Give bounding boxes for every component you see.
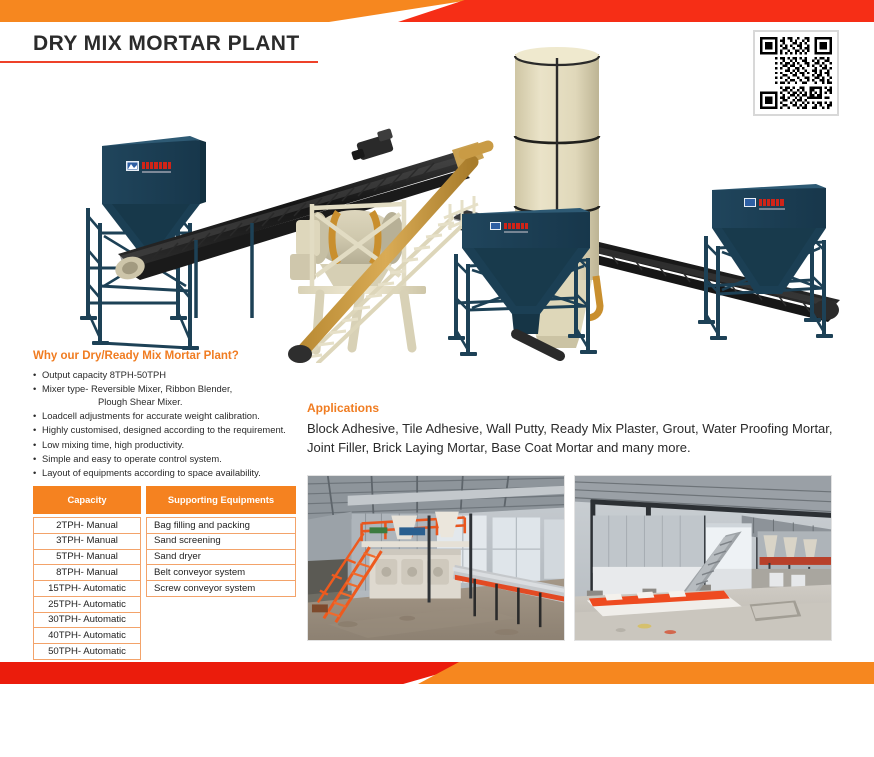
table-row: 50TPH- Automatic [33,643,141,660]
list-item-label: Mixer type- Reversible Mixer, Ribbon Ble… [42,383,232,394]
table-row: Screw conveyor system [146,580,296,597]
bullet-dot-icon: • [33,453,42,466]
table-row: 25TPH- Automatic [33,596,141,612]
table-row: 15TPH- Automatic [33,580,141,596]
bullet-dot-icon: • [33,424,42,437]
table-row: Sand screening [146,533,296,549]
list-item: • Low mixing time, high productivity. [33,439,305,452]
list-item-label: Layout of equipments according to space … [42,467,305,480]
dry-mix-mortar-plant-illustration [0,18,874,363]
capacity-table: Capacity 2TPH- Manual 3TPH- Manual 5TPH-… [33,486,141,660]
bullet-dot-icon: • [33,410,42,423]
list-item-label: Low mixing time, high productivity. [42,439,305,452]
table-row: Sand dryer [146,549,296,565]
table-row: 30TPH- Automatic [33,612,141,628]
table-row: 40TPH- Automatic [33,627,141,643]
applications-heading: Applications [307,401,379,415]
table-row: 2TPH- Manual [33,517,141,533]
list-item-sublabel: Plough Shear Mixer. [98,396,305,409]
list-item: • Output capacity 8TPH-50TPH [33,369,305,382]
supporting-equipments-table: Supporting Equipments Bag filling and pa… [146,486,296,597]
list-item: • Layout of equipments according to spac… [33,467,305,480]
bullet-dot-icon: • [33,439,42,452]
plant-installation-photo-1 [307,475,565,641]
list-item: • Loadcell adjustments for accurate weig… [33,410,305,423]
bottom-bar-orange-segment [418,662,874,684]
why-section-heading: Why our Dry/Ready Mix Mortar Plant? [33,350,239,362]
capacity-table-header: Capacity [33,486,141,514]
table-row: 3TPH- Manual [33,533,141,549]
list-item-label: Highly customised, designed according to… [42,424,305,437]
table-row: Bag filling and packing [146,517,296,533]
why-section-bullet-list: • Output capacity 8TPH-50TPH • Mixer typ… [33,369,305,481]
supporting-equipments-table-header: Supporting Equipments [146,486,296,514]
bullet-dot-icon: • [33,369,42,382]
table-row: 5TPH- Manual [33,549,141,565]
conveyor-drive-motor [351,128,394,160]
table-row: Belt conveyor system [146,564,296,580]
bottom-decorative-bar [0,662,874,684]
list-item-label: Loadcell adjustments for accurate weight… [42,410,305,423]
list-item-label: Simple and easy to operate control syste… [42,453,305,466]
table-row: 8TPH- Manual [33,564,141,580]
right-hopper [698,184,833,340]
list-item: • Mixer type- Reversible Mixer, Ribbon B… [33,383,305,409]
list-item: • Simple and easy to operate control sys… [33,453,305,466]
plant-installation-photo-2 [574,475,832,641]
list-item: • Highly customised, designed according … [33,424,305,437]
bullet-dot-icon: • [33,383,42,409]
bullet-dot-icon: • [33,467,42,480]
applications-body: Block Adhesive, Tile Adhesive, Wall Putt… [307,419,847,457]
bottom-bar-red-segment [0,662,480,684]
list-item-label: Output capacity 8TPH-50TPH [42,369,305,382]
center-hopper [448,208,597,356]
